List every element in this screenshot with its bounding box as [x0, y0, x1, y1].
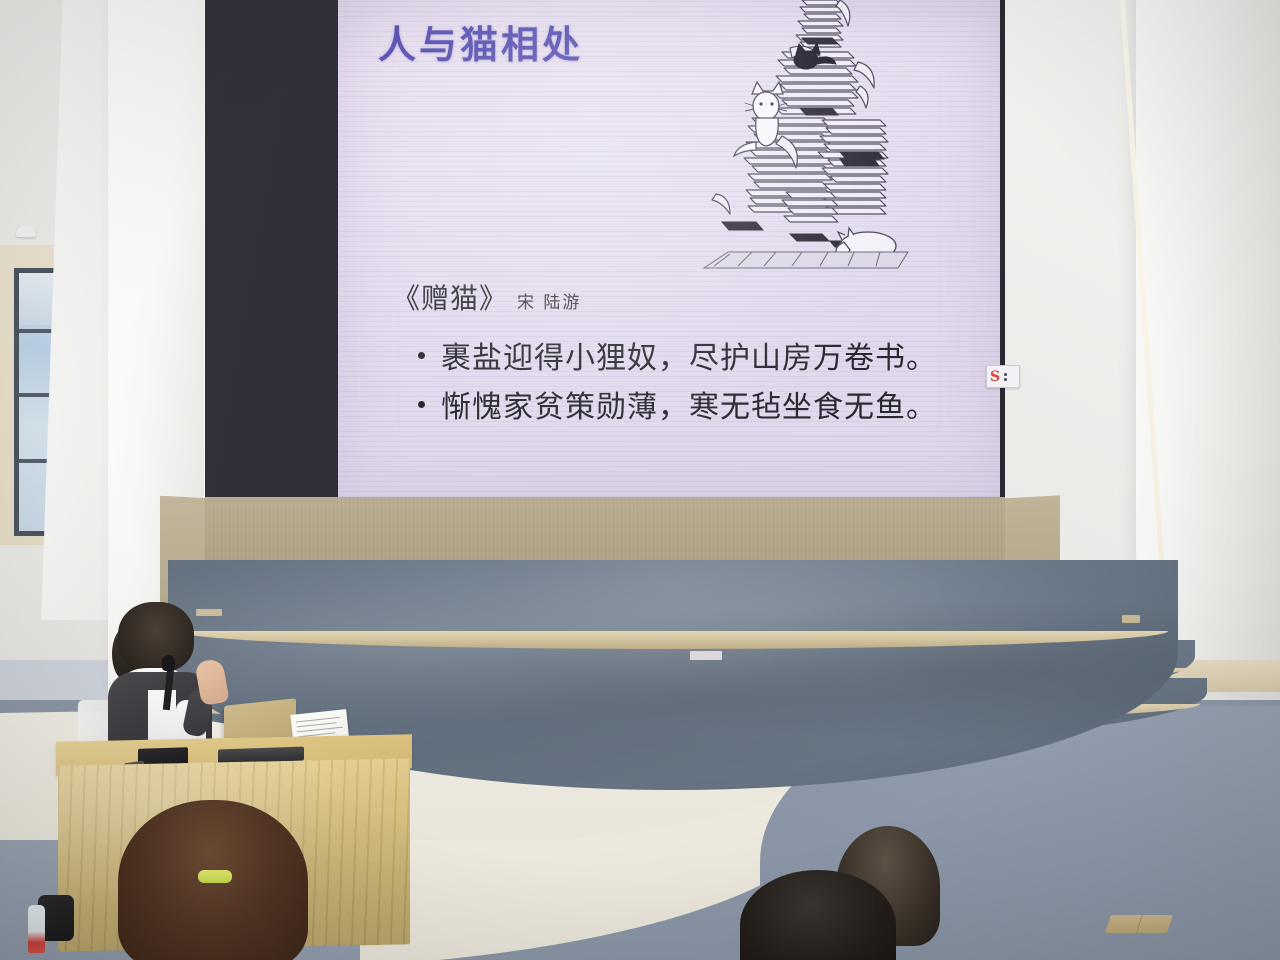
poem-heading: 《赠猫》宋 陆游: [392, 277, 581, 317]
sogou-ime-indicator[interactable]: S: [986, 365, 1020, 388]
poem-line-1: 裹盐迎得小狸奴，尽护山房万卷书。: [418, 333, 937, 377]
bullet-icon: [418, 401, 425, 408]
poem-line-2-text: 惭愧家贫策勋薄，寒无毡坐食无鱼。: [441, 390, 937, 425]
poem-title: 《赠猫》: [392, 282, 508, 315]
hair-tie: [198, 870, 232, 883]
ime-letter: S: [990, 370, 1000, 384]
slide-title-text: 人与猫相处: [378, 14, 583, 69]
book-stack-illustration: [690, 0, 910, 276]
bullet-icon: [418, 352, 425, 359]
presenter-hair: [118, 602, 194, 672]
poem-line-1-text: 裹盐迎得小狸奴，尽护山房万卷书。: [441, 341, 937, 376]
screenshot-root: 人与猫相处 人与猫相处 《赠猫》宋 陆游 裹盐迎得小狸奴，尽护山房万卷书。 惭愧…: [0, 0, 1280, 960]
brass-floor-socket: [1105, 915, 1173, 933]
stage-floor-plate: [690, 651, 722, 660]
security-camera-icon: [16, 225, 36, 237]
stage-edge-plate-right: [1122, 615, 1140, 623]
ime-dots-icon: [1004, 373, 1007, 381]
water-bottle: [28, 905, 45, 953]
poem-line-2: 惭愧家贫策勋薄，寒无毡坐食无鱼。: [418, 382, 937, 426]
poem-attribution: 宋 陆游: [517, 293, 581, 313]
stage-edge-plate-left: [196, 609, 222, 616]
microphone-icon: [162, 655, 175, 671]
